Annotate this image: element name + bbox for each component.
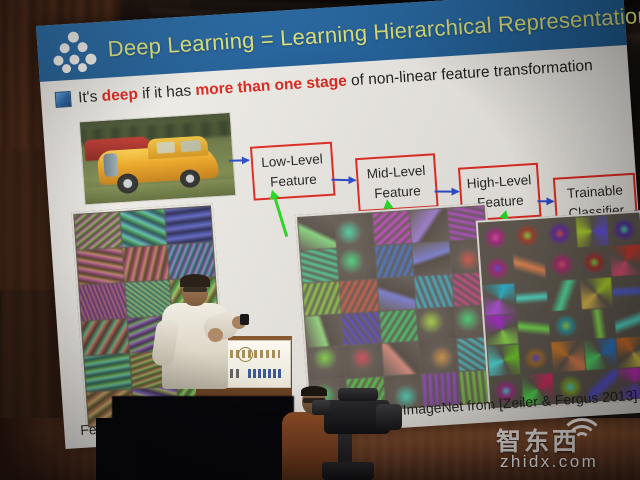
pipeline-box-mid-level: Mid-Level Feature — [355, 153, 439, 212]
speaker-person — [152, 276, 238, 408]
photo-stage: Deep Learning = Learning Hierarchical Re… — [0, 0, 640, 480]
pipeline-box-mid-level-line2: Feature — [374, 181, 422, 203]
arrow-input-to-low — [229, 159, 249, 162]
arrow-mid-to-high — [435, 190, 459, 192]
blue-square-bullet-icon — [55, 91, 72, 108]
bullet-emphasis-deep: deep — [101, 86, 138, 105]
conference-seal-icon — [238, 347, 253, 362]
bullet-part-3: of non-linear feature transformation — [346, 57, 593, 89]
presenter-clicker — [240, 314, 249, 325]
input-image-car-photo — [79, 112, 237, 205]
feature-grid-high-level — [476, 210, 640, 410]
bullet-part-2: if it has — [137, 82, 196, 103]
network-nodes-logo-icon — [50, 28, 99, 75]
bullet-emphasis-stage: more than one stage — [195, 73, 347, 99]
pipeline-box-low-level: Low-Level Feature — [250, 142, 336, 201]
camera-operator — [276, 386, 402, 480]
camera-lens-icon — [376, 404, 402, 430]
wifi-arc-icon — [556, 416, 602, 442]
watermark-domain: zhidx.com — [500, 452, 598, 472]
foreground-dark-silhouette-2 — [96, 418, 136, 480]
green-arrow-low-level — [273, 196, 288, 237]
watermark: 智东西 zhidx.com — [494, 418, 634, 476]
foreground-dark-silhouette — [112, 396, 294, 480]
presentation-slide: Deep Learning = Learning Hierarchical Re… — [36, 0, 640, 449]
arrow-low-to-mid — [331, 179, 355, 182]
speaker-glasses-icon — [183, 287, 207, 292]
feature-grid-mid-level — [295, 203, 501, 417]
facebook-logo-icon — [248, 369, 282, 378]
arrow-high-to-classifier — [537, 200, 553, 202]
bullet-part-1: It's — [78, 88, 103, 106]
